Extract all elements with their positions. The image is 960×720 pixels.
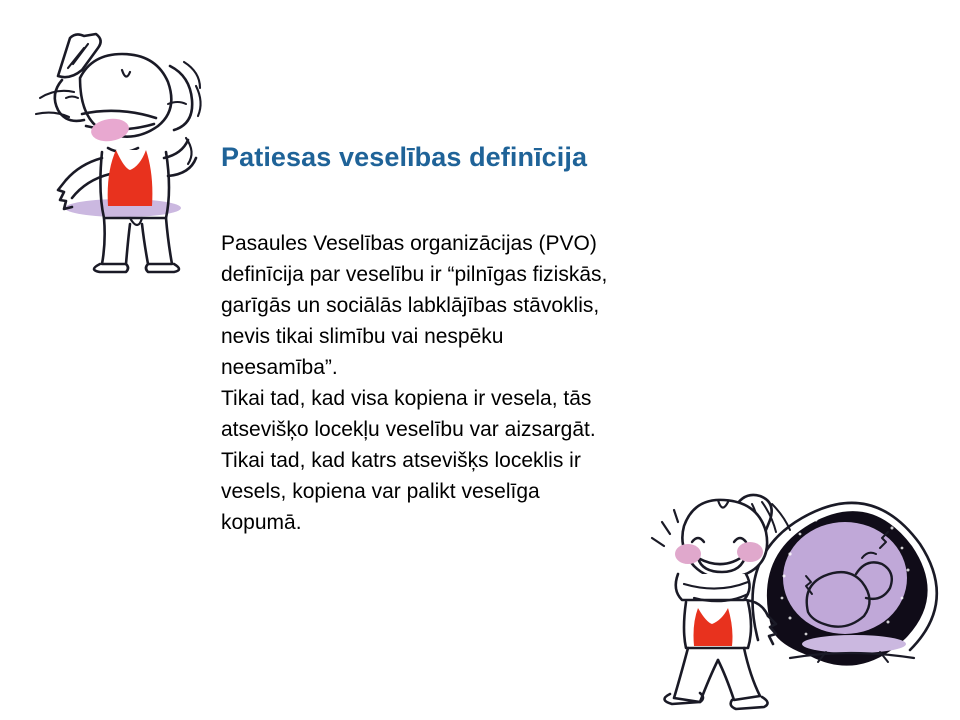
page-title: Patiesas veselības definīcija: [221, 140, 821, 174]
body-line: Tikai tad, kad visa kopiena ir vesela, t…: [221, 383, 741, 414]
body-line: Pasaules Veselības organizācijas (PVO): [221, 228, 741, 259]
slide-canvas: Patiesas veselības definīcija Pasaules V…: [0, 0, 960, 720]
red-vest-right-icon: [694, 608, 733, 646]
body-line: kopumā.: [221, 507, 741, 538]
illustration-top-left: [18, 18, 228, 223]
body-text-block: Pasaules Veselības organizācijas (PVO) d…: [221, 228, 741, 538]
tire-ring-icon: [753, 503, 937, 666]
cheek-blush-left-icon: [90, 116, 131, 143]
body-line: Tikai tad, kad katrs atsevišķs loceklis …: [221, 445, 741, 476]
body-line: garīgās un sociālās labklājības stāvokli…: [221, 290, 741, 321]
body-line: neesamība”.: [221, 352, 741, 383]
body-line: atsevišķo locekļu veselību var aizsargāt…: [221, 414, 741, 445]
body-line: vesels, kopiena var palikt veselīga: [221, 476, 741, 507]
body-line: definīcija par veselību ir “pilnīgas fiz…: [221, 259, 741, 290]
red-vest-left-icon: [108, 150, 153, 206]
body-line: nevis tikai slimību vai nespēku: [221, 321, 741, 352]
